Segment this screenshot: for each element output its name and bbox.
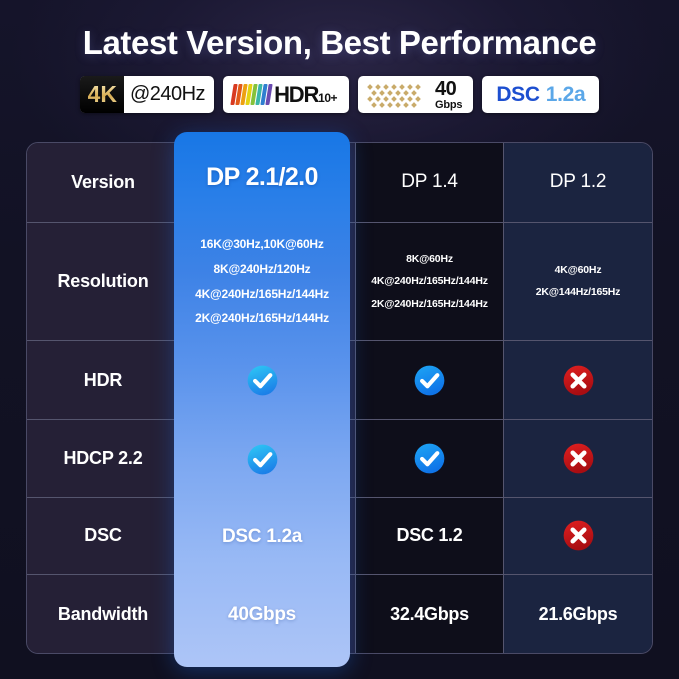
40gbps-badge: 40 Gbps: [358, 76, 473, 113]
bandwidth-dp21: 40Gbps: [228, 604, 296, 626]
dsc-dp14: DSC 1.2: [397, 525, 463, 546]
4k-label: 4K: [80, 76, 124, 113]
resolution-dp14: 8K@60Hz 4K@240Hz/165Hz/144Hz 2K@240Hz/16…: [371, 248, 488, 316]
hdr10plus-badge: HDR10+: [223, 76, 349, 113]
version-dp12: DP 1.2: [550, 171, 607, 193]
table-column-dp14: DP 1.4 8K@60Hz 4K@240Hz/165Hz/144Hz 2K@2…: [356, 143, 504, 653]
refresh-rate-label: @240Hz: [124, 83, 214, 106]
hdr-text: HDR10+: [274, 82, 337, 108]
resolution-dp12: 4K@60Hz 2K@144Hz/165Hz: [536, 259, 620, 304]
check-circle-icon: [413, 364, 446, 397]
cross-circle-icon: [562, 519, 595, 552]
row-label-hdr: HDR: [84, 370, 122, 391]
row-label-version: Version: [71, 172, 135, 193]
bandwidth-dp14: 32.4Gbps: [390, 604, 469, 625]
bandwidth-lattice-icon: [366, 81, 428, 109]
dsc-badge-label: DSC: [496, 83, 539, 107]
row-label-dsc: DSC: [84, 525, 121, 546]
dsc-dp21: DSC 1.2a: [222, 526, 302, 548]
check-circle-icon: [246, 364, 279, 397]
check-circle-icon: [413, 442, 446, 475]
dsc-badge: DSC 1.2a: [482, 76, 599, 113]
row-label-resolution: Resolution: [58, 271, 149, 292]
feature-badge-row: 4K @240Hz HDR10+: [0, 76, 679, 113]
row-label-hdcp: HDCP 2.2: [63, 448, 142, 469]
bandwidth-dp12: 21.6Gbps: [539, 604, 618, 625]
check-circle-icon: [246, 443, 279, 476]
table-column-dp12: DP 1.2 4K@60Hz 2K@144Hz/165Hz: [504, 143, 652, 653]
row-label-bandwidth: Bandwidth: [58, 604, 148, 625]
table-row-label-column: Version Resolution HDR HDCP 2.2 DSC Band…: [27, 143, 180, 653]
resolution-dp21: 16K@30Hz,10K@60Hz 8K@240Hz/120Hz 4K@240H…: [195, 232, 329, 330]
cross-circle-icon: [562, 364, 595, 397]
version-dp21: DP 2.1/2.0: [206, 132, 318, 222]
4k-240hz-badge: 4K @240Hz: [80, 76, 215, 113]
hdr-color-bars-icon: [232, 84, 271, 105]
infographic-page: Latest Version, Best Performance 4K @240…: [0, 0, 679, 679]
cross-circle-icon: [562, 442, 595, 475]
version-dp14: DP 1.4: [401, 171, 458, 193]
bandwidth-value: 40 Gbps: [435, 79, 462, 111]
page-title: Latest Version, Best Performance: [0, 24, 679, 62]
dsc-badge-version: 1.2a: [546, 83, 586, 107]
highlighted-column-dp21[interactable]: DP 2.1/2.0 16K@30Hz,10K@60Hz 8K@240Hz/12…: [174, 132, 350, 667]
